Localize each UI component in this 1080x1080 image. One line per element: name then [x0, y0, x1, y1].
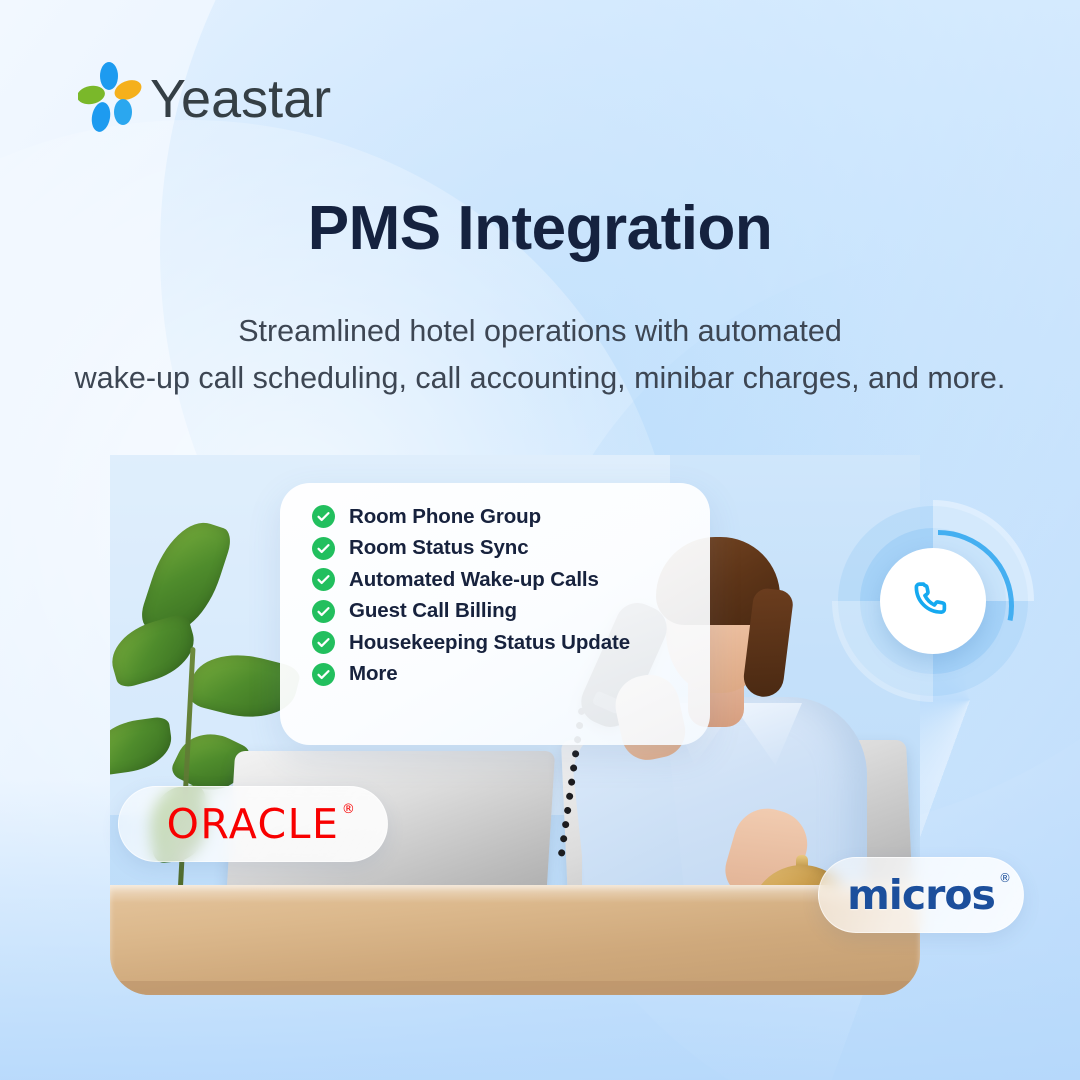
phone-badge: [838, 506, 1028, 696]
list-item: Housekeeping Status Update: [312, 627, 700, 659]
subtitle-line-1: Streamlined hotel operations with automa…: [0, 308, 1080, 355]
list-item: Guest Call Billing: [312, 596, 700, 628]
feature-label: More: [349, 662, 398, 686]
page-subtitle: Streamlined hotel operations with automa…: [0, 308, 1080, 403]
yeastar-logo-wordmark: Yeastar: [150, 69, 331, 129]
check-circle-icon: [312, 663, 335, 686]
feature-label: Room Phone Group: [349, 505, 541, 529]
oracle-logo-badge: ORACLE®: [118, 786, 388, 862]
oracle-logo: ORACLE®: [167, 800, 340, 848]
check-circle-icon: [312, 568, 335, 591]
feature-label: Room Status Sync: [349, 536, 529, 560]
micros-logo-badge: micros®: [818, 857, 1024, 933]
feature-label: Housekeeping Status Update: [349, 631, 630, 655]
page-title: PMS Integration: [0, 196, 1080, 263]
feature-list: Room Phone Group Room Status Sync Automa…: [312, 501, 700, 690]
check-circle-icon: [312, 600, 335, 623]
phone-badge-circle: [880, 548, 986, 654]
check-circle-icon: [312, 537, 335, 560]
subtitle-line-2: wake-up call scheduling, call accounting…: [0, 355, 1080, 402]
poster-canvas: Yeastar PMS Integration Streamlined hote…: [0, 0, 1080, 1080]
micros-wordmark: micros: [847, 871, 995, 919]
list-item: Room Status Sync: [312, 533, 700, 565]
list-item: Automated Wake-up Calls: [312, 564, 700, 596]
check-circle-icon: [312, 631, 335, 654]
feature-label: Automated Wake-up Calls: [349, 568, 599, 592]
feature-label: Guest Call Billing: [349, 599, 517, 623]
micros-trademark: ®: [999, 871, 1010, 885]
list-item: More: [312, 659, 700, 691]
wooden-desk: [110, 885, 920, 995]
list-item: Room Phone Group: [312, 501, 700, 533]
phone-handset-icon: [912, 578, 954, 625]
yeastar-logo: Yeastar: [78, 62, 340, 136]
feature-list-card: Room Phone Group Room Status Sync Automa…: [280, 483, 710, 745]
check-circle-icon: [312, 505, 335, 528]
yeastar-logo-mark: [78, 62, 144, 133]
oracle-wordmark: ORACLE: [167, 800, 340, 848]
oracle-trademark: ®: [342, 802, 357, 817]
micros-logo: micros®: [847, 871, 995, 919]
